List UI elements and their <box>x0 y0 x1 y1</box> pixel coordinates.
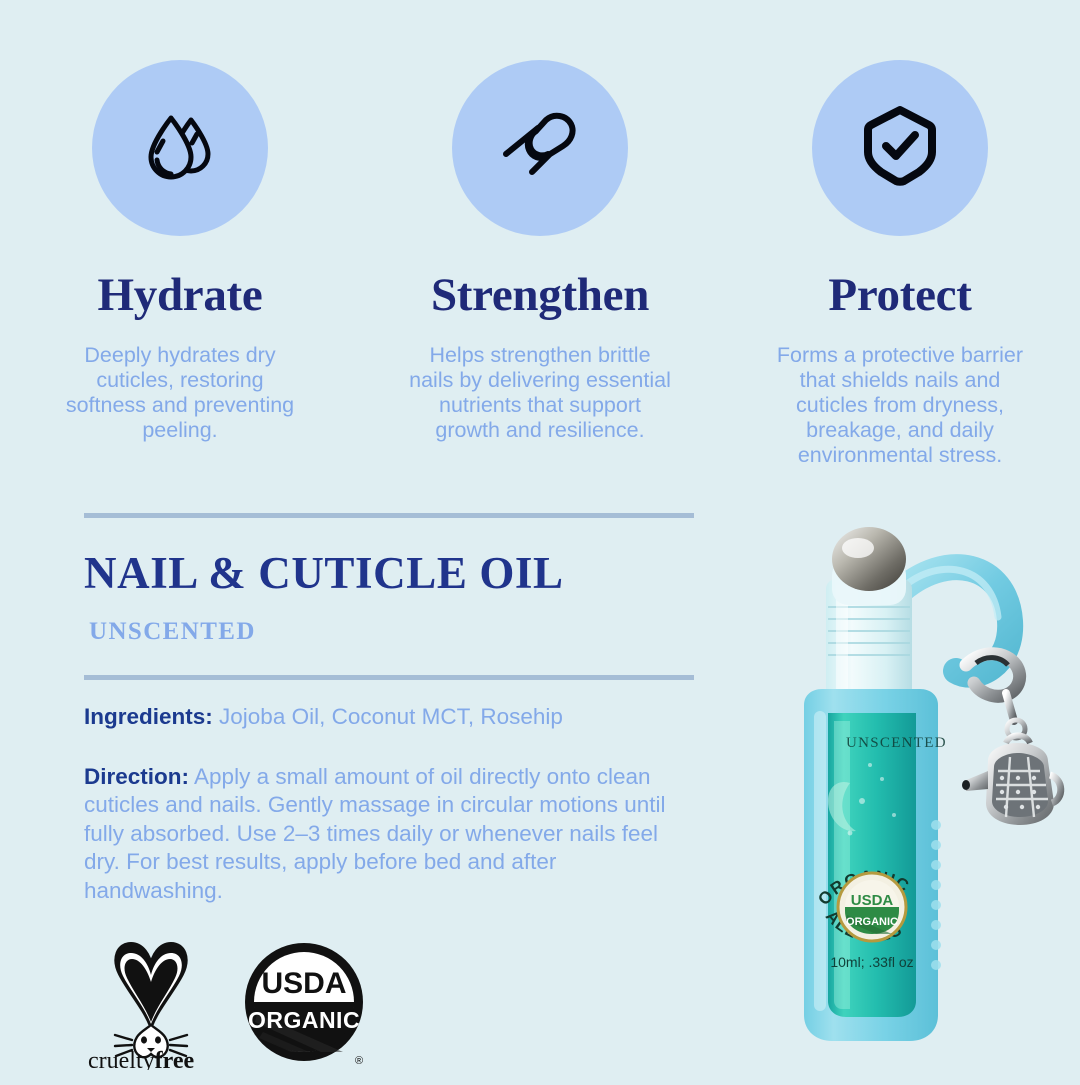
direction-label: Direction: <box>84 764 189 789</box>
shield-check-icon <box>853 99 947 198</box>
benefit-icon-circle <box>812 60 988 236</box>
benefit-icon-circle <box>452 60 628 236</box>
bottle-volume-text: 10ml; .33fl oz <box>830 954 913 970</box>
cruelty-free-text-bold: free <box>155 1048 195 1070</box>
benefit-strengthen: Strengthen Helps strengthen brittle nail… <box>360 0 720 468</box>
benefit-title: Strengthen <box>431 272 649 319</box>
page-title: NAIL & CUTICLE OIL <box>84 551 694 596</box>
sleeve-unscented-text: UNSCENTED <box>846 735 947 751</box>
fingernail-icon <box>492 98 588 199</box>
bottle-seal-line2: ORGANIC <box>846 916 898 928</box>
cruelty-free-text-light: crueltyfree <box>88 1048 195 1070</box>
direction-line: Direction: Apply a small amount of oil d… <box>84 763 694 906</box>
divider-bottom <box>84 675 694 680</box>
divider-top <box>84 513 694 518</box>
bottle-liquid-window <box>828 713 916 1017</box>
registered-mark: ® <box>355 1055 363 1067</box>
benefit-description: Deeply hydrates dry cuticles, restoring … <box>55 343 305 443</box>
benefit-title: Hydrate <box>98 272 263 319</box>
product-info-panel: NAIL & CUTICLE OIL UNSCENTED Ingredients… <box>84 513 694 905</box>
rollerball-bottle-photo: UNSCENTED ORGANIC ALL OILS USDA ORGANIC … <box>770 515 1080 1080</box>
ingredients-label: Ingredients: <box>84 704 213 729</box>
benefit-title: Protect <box>828 272 971 319</box>
cruelty-free-logo: crueltyfree <box>84 930 219 1075</box>
benefit-description: Forms a protective barrier that shields … <box>774 343 1026 468</box>
benefit-protect: Protect Forms a protective barrier that … <box>720 0 1080 468</box>
bottle-usda-seal: USDA ORGANIC <box>838 873 906 941</box>
usda-organic-seal: USDA ORGANIC ® <box>243 940 371 1075</box>
benefits-row: Hydrate Deeply hydrates dry cuticles, re… <box>0 0 1080 468</box>
bottle-seal-line1: USDA <box>851 892 894 909</box>
rollerball-applicator <box>832 527 906 605</box>
benefit-icon-circle <box>92 60 268 236</box>
teapot-charm <box>962 654 1061 825</box>
water-drops-icon <box>134 100 226 197</box>
certification-logos: crueltyfree USDA ORGANIC ® <box>84 930 371 1075</box>
ingredients-line: Ingredients: Jojoba Oil, Coconut MCT, Ro… <box>84 703 694 732</box>
benefit-description: Helps strengthen brittle nails by delive… <box>409 343 671 443</box>
product-scent-subtitle: UNSCENTED <box>89 619 694 644</box>
usda-seal-line2: ORGANIC <box>248 1007 360 1033</box>
benefit-hydrate: Hydrate Deeply hydrates dry cuticles, re… <box>0 0 360 468</box>
usda-seal-line1: USDA <box>261 967 346 1000</box>
ingredients-value: Jojoba Oil, Coconut MCT, Rosehip <box>219 704 563 729</box>
